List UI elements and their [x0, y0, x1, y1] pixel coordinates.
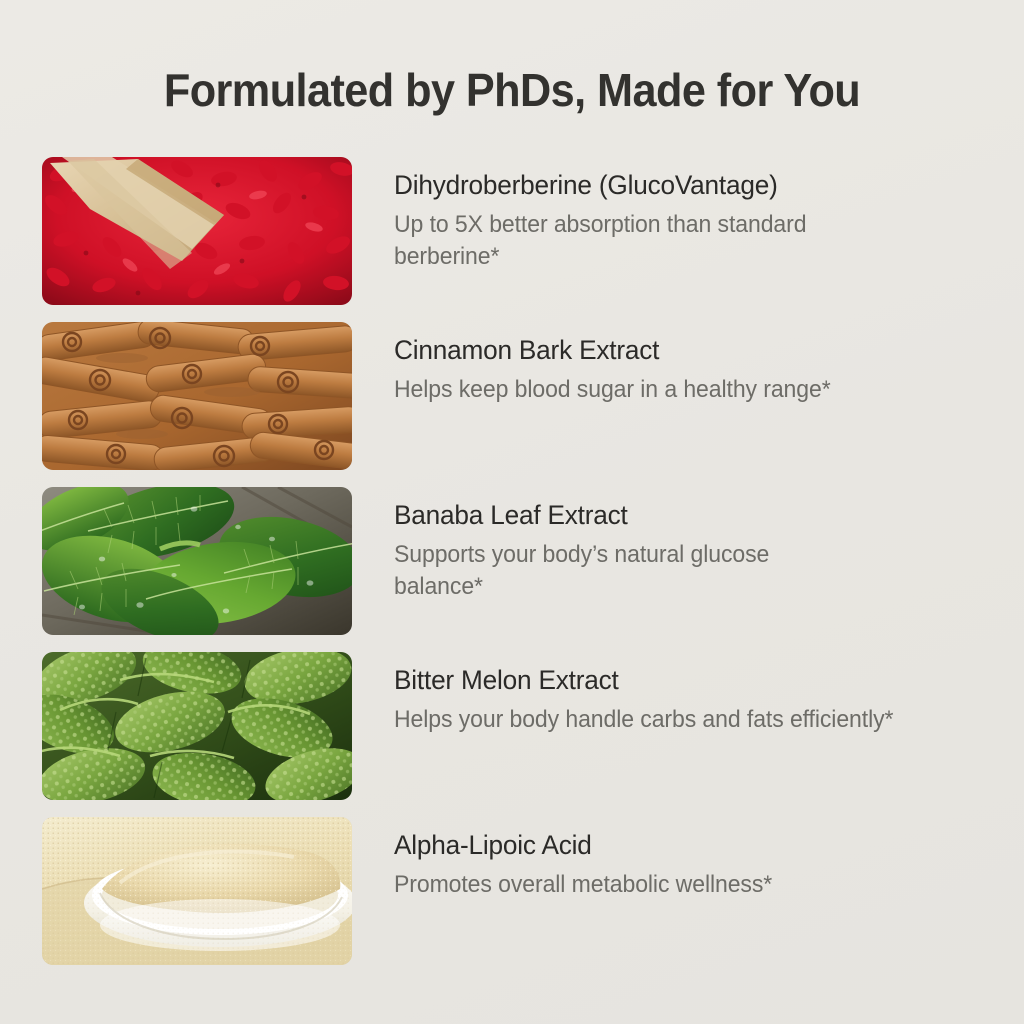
ingredient-text-block: Alpha-Lipoic Acid Promotes overall metab…: [394, 829, 974, 901]
ingredient-name: Banaba Leaf Extract: [394, 499, 957, 532]
ingredient-text-block: Bitter Melon Extract Helps your body han…: [394, 664, 974, 736]
ingredient-name: Alpha-Lipoic Acid: [394, 829, 957, 862]
ingredient-description: Up to 5X better absorption than standard…: [394, 209, 845, 273]
ingredient-text-block: Cinnamon Bark Extract Helps keep blood s…: [394, 334, 974, 406]
ingredient-description: Supports your body’s natural glucose bal…: [394, 539, 845, 603]
ingredient-row: Cinnamon Bark Extract Helps keep blood s…: [42, 322, 982, 470]
ingredient-row: Banaba Leaf Extract Supports your body’s…: [42, 487, 982, 635]
ingredient-name: Dihydroberberine (GlucoVantage): [394, 169, 957, 202]
alpha-lipoic-acid-powder-bowl-photo: [42, 817, 352, 965]
ingredient-description: Helps keep blood sugar in a healthy rang…: [394, 374, 845, 406]
ingredient-name: Bitter Melon Extract: [394, 664, 957, 697]
ingredient-row: Bitter Melon Extract Helps your body han…: [42, 652, 982, 800]
ingredient-text-block: Dihydroberberine (GlucoVantage) Up to 5X…: [394, 169, 974, 273]
ingredient-description: Promotes overall metabolic wellness*: [394, 869, 932, 901]
ingredient-highlight-panel: Formulated by PhDs, Made for You: [0, 0, 1024, 1024]
ingredient-text-block: Banaba Leaf Extract Supports your body’s…: [394, 499, 974, 603]
banaba-green-leaves-photo: [42, 487, 352, 635]
barberry-berries-with-wooden-scoop-photo: [42, 157, 352, 305]
ingredient-name: Cinnamon Bark Extract: [394, 334, 957, 367]
cinnamon-bark-sticks-photo: [42, 322, 352, 470]
ingredient-row: Alpha-Lipoic Acid Promotes overall metab…: [42, 817, 982, 965]
page-title: Formulated by PhDs, Made for You: [31, 62, 994, 118]
ingredient-list: Dihydroberberine (GlucoVantage) Up to 5X…: [42, 157, 982, 965]
ingredient-description: Helps your body handle carbs and fats ef…: [394, 704, 932, 736]
ingredient-row: Dihydroberberine (GlucoVantage) Up to 5X…: [42, 157, 982, 305]
bitter-melon-gourds-photo: [42, 652, 352, 800]
